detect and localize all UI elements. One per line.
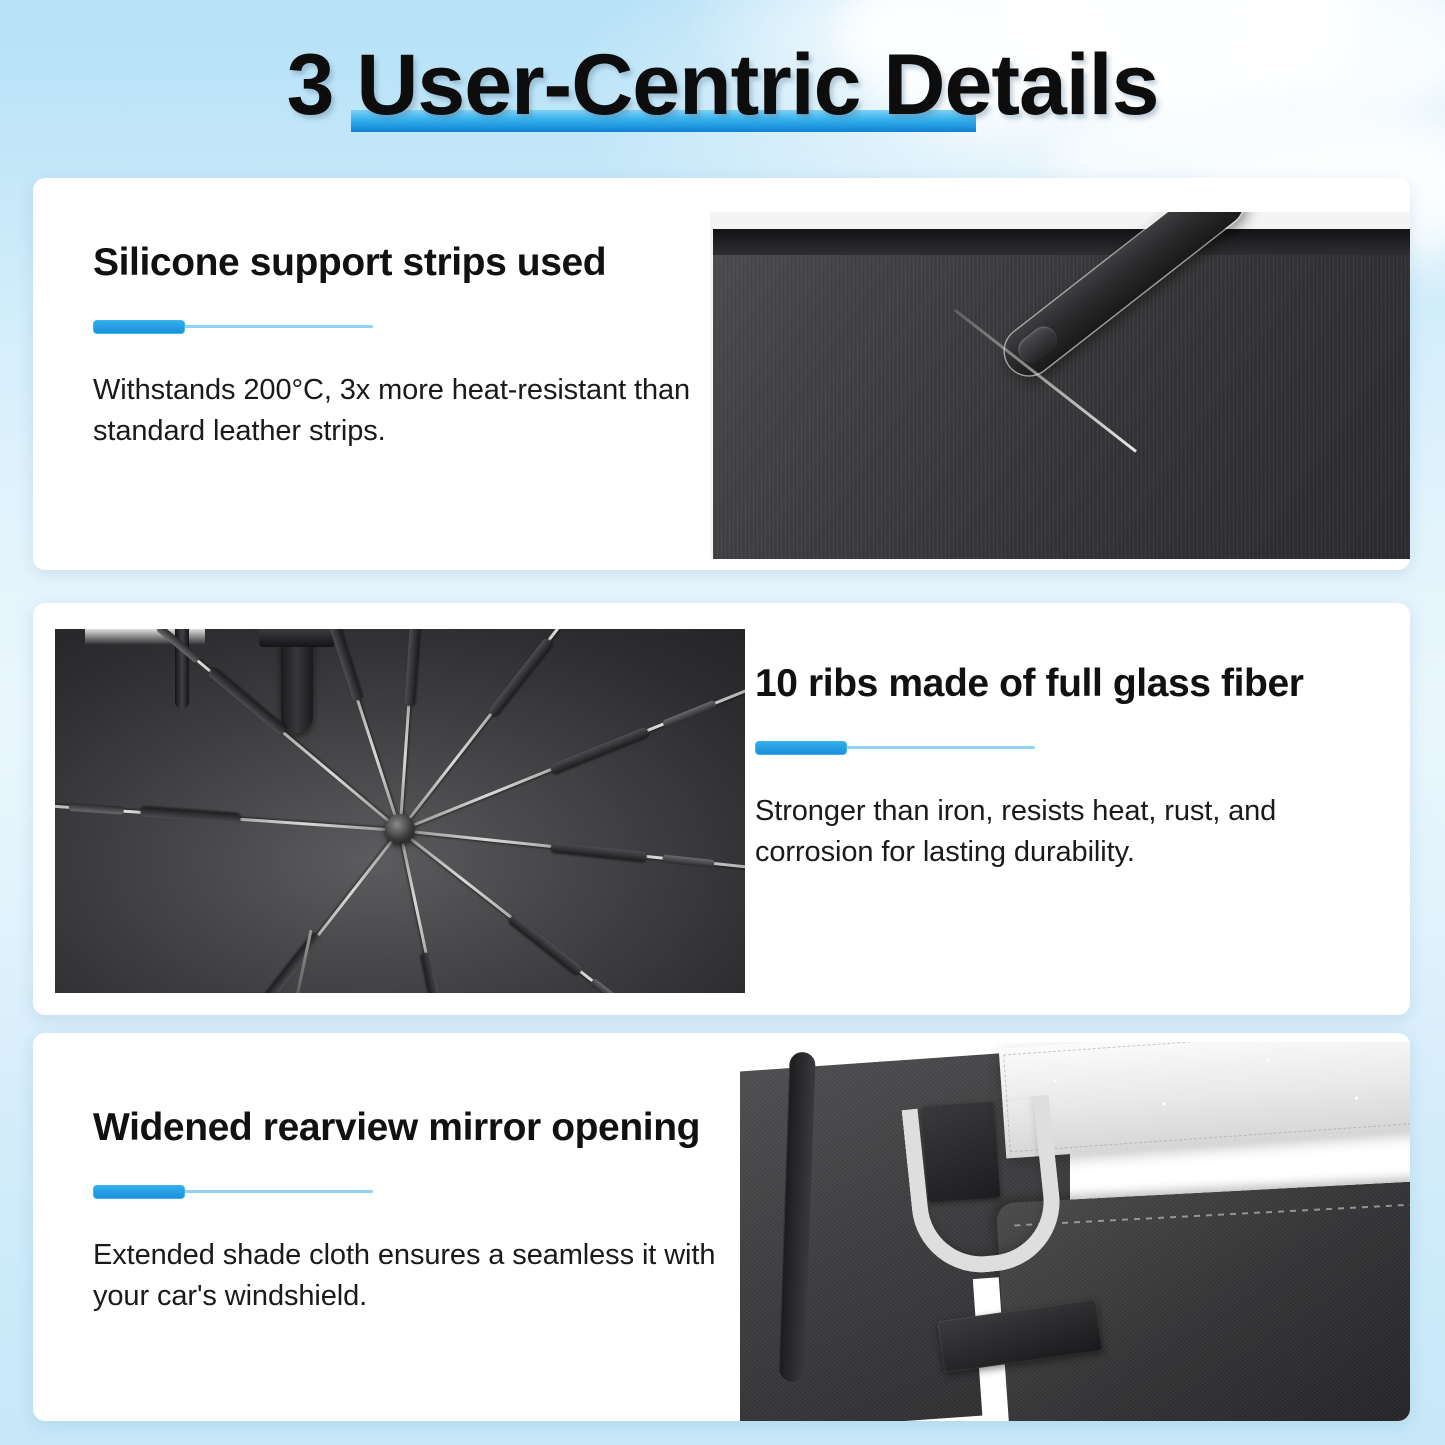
shade-panel-right-shape (996, 1181, 1410, 1421)
feature-image-mirror-opening (740, 1042, 1410, 1421)
umbrella-hub-shape (385, 814, 415, 844)
accent-divider-2 (755, 741, 1035, 755)
accent-divider-3 (93, 1185, 373, 1199)
feature-card-3: Widened rearview mirror opening Extended… (33, 1033, 1410, 1421)
feature-body-1: Withstands 200°C, 3x more heat-resistant… (93, 370, 693, 452)
umbrella-handle-shape (281, 629, 313, 733)
feature-text-block-1: Silicone support strips used Withstands … (93, 240, 693, 452)
sunshade-top-rim-shape (713, 229, 1410, 255)
feature-body-2: Stronger than iron, resists heat, rust, … (755, 791, 1375, 873)
accent-thick-bar (93, 1185, 185, 1199)
feature-headline-1: Silicone support strips used (93, 240, 693, 286)
feature-card-2: 10 ribs made of full glass fiber Stronge… (33, 603, 1410, 1015)
feature-text-block-3: Widened rearview mirror opening Extended… (93, 1105, 743, 1317)
page-header: 3 User-Centric Details (0, 42, 1445, 128)
accent-thick-bar (93, 320, 185, 334)
feature-card-1: Silicone support strips used Withstands … (33, 178, 1410, 570)
feature-headline-3: Widened rearview mirror opening (93, 1105, 743, 1151)
feature-image-glass-fiber-ribs (55, 629, 745, 993)
accent-divider-1 (93, 320, 373, 334)
feature-image-silicone-strip (710, 212, 1410, 559)
header-inner: 3 User-Centric Details (287, 42, 1159, 128)
accent-thick-bar (755, 741, 847, 755)
feature-body-3: Extended shade cloth ensures a seamless … (93, 1235, 743, 1317)
page-title: 3 User-Centric Details (287, 42, 1159, 128)
feature-headline-2: 10 ribs made of full glass fiber (755, 661, 1375, 707)
feature-text-block-2: 10 ribs made of full glass fiber Stronge… (755, 661, 1375, 873)
